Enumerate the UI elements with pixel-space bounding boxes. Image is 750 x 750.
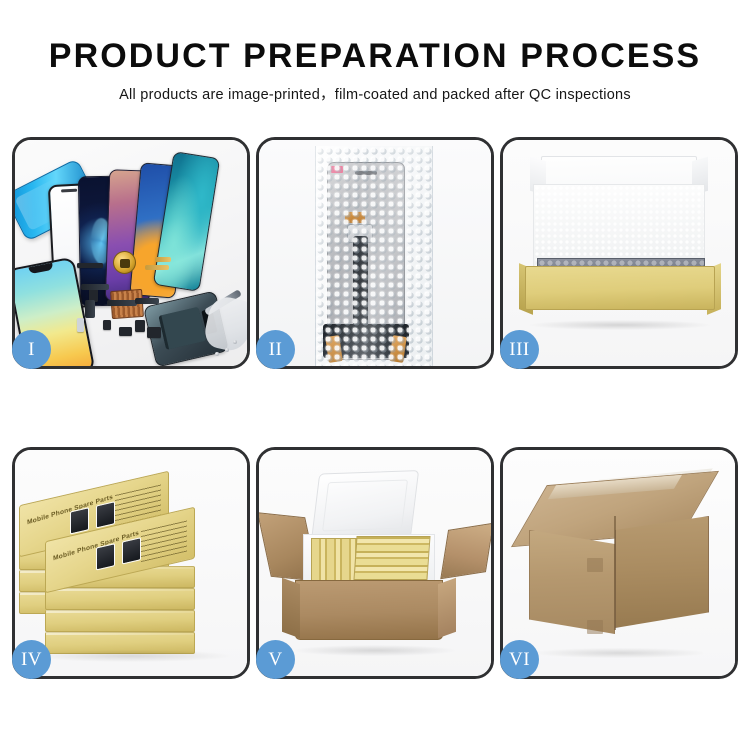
- process-step-panel-4: Mobile Phone Spare Parts Mobile Phone Sp…: [12, 447, 250, 679]
- screw-part: [215, 352, 219, 356]
- carton-flap-right: [440, 523, 491, 580]
- carton-left-face: [529, 530, 615, 634]
- part-chip: [77, 263, 103, 268]
- process-step-panel-3: III: [500, 137, 738, 369]
- step-1-image: [15, 140, 247, 366]
- part-flex-cable: [85, 300, 95, 318]
- step-4-image: Mobile Phone Spare Parts Mobile Phone Sp…: [15, 450, 247, 676]
- step-badge-6: VI: [500, 640, 539, 679]
- process-step-panel-6: VI: [500, 447, 738, 679]
- part-chip: [135, 320, 145, 332]
- part-flex-cable: [107, 300, 137, 306]
- part-flex-cable-gold: [145, 265, 169, 270]
- step-badge-2: II: [256, 330, 295, 369]
- part-chip: [103, 320, 111, 330]
- step-badge-3: III: [500, 330, 539, 369]
- part-flex-cable: [81, 284, 109, 290]
- process-step-panel-1: I: [12, 137, 250, 369]
- page-title: PRODUCT PREPARATION PROCESS: [0, 36, 750, 76]
- step-5-image: [259, 450, 491, 676]
- carton-body: [295, 580, 443, 640]
- yellow-inner-box-tray: [525, 266, 715, 310]
- carton-right-face: [615, 516, 709, 628]
- process-steps-grid: I II III: [12, 137, 738, 682]
- page-header: PRODUCT PREPARATION PROCESS All products…: [0, 0, 750, 105]
- step-badge-4: IV: [12, 640, 51, 679]
- foam-cover-lid: [311, 470, 419, 542]
- part-chip: [77, 318, 84, 332]
- screw-part: [225, 348, 229, 352]
- carton-handle-tab: [587, 558, 603, 572]
- step-3-image: [503, 140, 735, 366]
- part-chip: [119, 327, 132, 336]
- step-badge-5: V: [256, 640, 295, 679]
- carton-handle-tab: [587, 620, 603, 634]
- part-chip: [147, 327, 161, 338]
- process-step-panel-2: II: [256, 137, 494, 369]
- part-flex-cable-gold: [155, 257, 171, 262]
- step-2-image: [259, 140, 491, 366]
- step-badge-1: I: [12, 330, 51, 369]
- step-6-image: [503, 450, 735, 676]
- yellow-boxes-row: [353, 536, 430, 580]
- screw-part: [233, 340, 237, 344]
- speaker-coil-part: [113, 251, 136, 274]
- part-flex-cable: [135, 298, 159, 304]
- page-subtitle: All products are image-printed，film-coat…: [0, 85, 750, 105]
- process-step-panel-5: V: [256, 447, 494, 679]
